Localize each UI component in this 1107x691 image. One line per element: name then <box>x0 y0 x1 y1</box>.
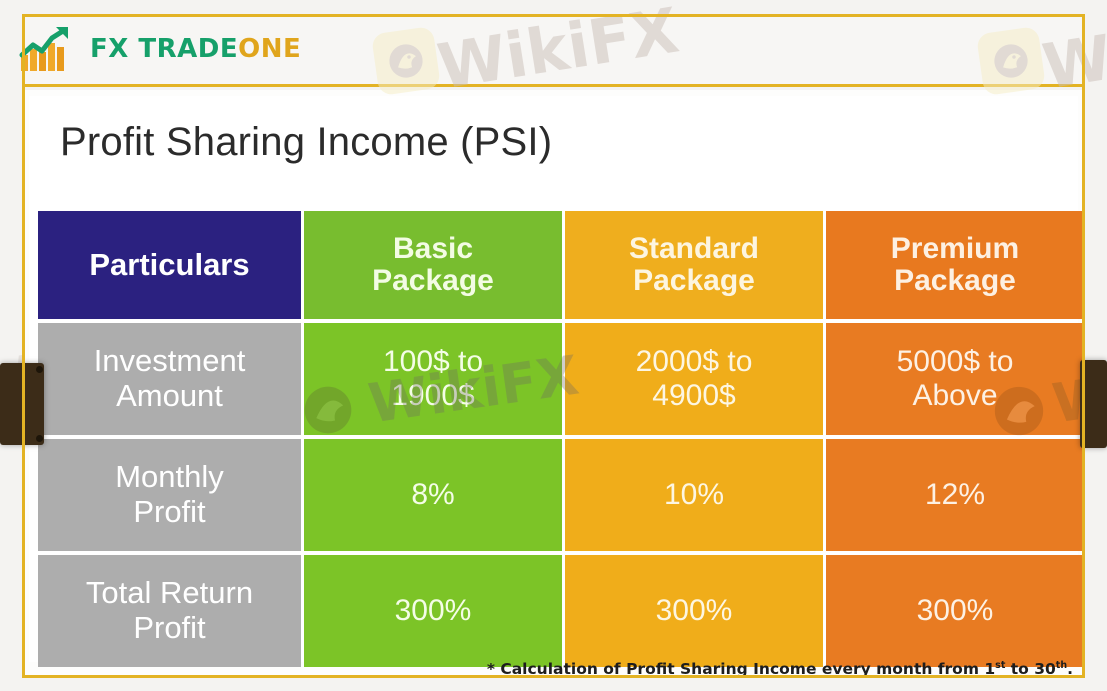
brand-name-primary: FX TRADE <box>90 34 238 64</box>
cell-investment-premium: 5000$ to Above <box>826 323 1084 435</box>
column-header-particulars: Particulars <box>38 211 301 319</box>
cell-line2: Above <box>826 379 1084 413</box>
cell-investment-standard: 2000$ to 4900$ <box>565 323 823 435</box>
cell-line1: 5000$ to <box>826 345 1084 379</box>
column-header-basic: Basic Package <box>304 211 562 319</box>
column-header-premium-line1: Premium <box>826 233 1084 265</box>
row-label-total-return-profit: Total Return Profit <box>38 555 301 667</box>
row-label-line2: Amount <box>38 379 301 414</box>
cell-monthly-standard: 10% <box>565 439 823 551</box>
cell-line1: 8% <box>304 478 562 512</box>
cell-line1: 12% <box>826 478 1084 512</box>
column-header-basic-line2: Package <box>304 265 562 297</box>
presentation-slide: WikiFX FX TRADEONE Profit Sharing Income… <box>0 0 1107 691</box>
table-header-row: Particulars Basic Package Standard Packa… <box>38 211 1084 319</box>
bar-chart-uptrend-icon <box>18 25 80 73</box>
table-row: Total Return Profit 300% 300% 300% <box>38 555 1084 667</box>
table-row: Monthly Profit 8% 10% 12% <box>38 439 1084 551</box>
cell-line1: 10% <box>565 478 823 512</box>
row-label-monthly-profit: Monthly Profit <box>38 439 301 551</box>
cell-monthly-premium: 12% <box>826 439 1084 551</box>
footnote-text-before: * Calculation of Profit Sharing Income e… <box>487 660 995 678</box>
psi-pricing-table: Particulars Basic Package Standard Packa… <box>35 207 1087 671</box>
column-header-particulars-label: Particulars <box>89 247 249 282</box>
cell-line1: 2000$ to <box>565 345 823 379</box>
page-title: Profit Sharing Income (PSI) <box>60 120 552 165</box>
cell-line2: 1900$ <box>304 379 562 413</box>
brand-logo: FX TRADEONE <box>18 24 301 74</box>
cell-investment-basic: 100$ to 1900$ <box>304 323 562 435</box>
column-header-premium: Premium Package <box>826 211 1084 319</box>
cell-total-basic: 300% <box>304 555 562 667</box>
table-row: Investment Amount 100$ to 1900$ 2000$ to… <box>38 323 1084 435</box>
row-label-investment-amount: Investment Amount <box>38 323 301 435</box>
cell-total-premium: 300% <box>826 555 1084 667</box>
column-header-standard: Standard Package <box>565 211 823 319</box>
row-label-line2: Profit <box>38 611 301 646</box>
cell-line1: 300% <box>304 594 562 628</box>
footnote-ordinal-first: st <box>995 660 1005 671</box>
edge-clamp-left <box>0 363 44 445</box>
row-label-line1: Monthly <box>38 460 301 495</box>
row-label-line1: Investment <box>38 344 301 379</box>
brand-name-secondary: ONE <box>238 34 301 64</box>
brand-wordmark: FX TRADEONE <box>90 34 301 64</box>
footnote-ordinal-last: th <box>1056 660 1067 671</box>
cell-total-standard: 300% <box>565 555 823 667</box>
column-header-basic-line1: Basic <box>304 233 562 265</box>
footnote: * Calculation of Profit Sharing Income e… <box>487 660 1073 678</box>
row-label-line1: Total Return <box>38 576 301 611</box>
column-header-standard-line1: Standard <box>565 233 823 265</box>
cell-line1: 300% <box>826 594 1084 628</box>
footnote-text-after: . <box>1067 660 1073 678</box>
column-header-premium-line2: Package <box>826 265 1084 297</box>
cell-line1: 300% <box>565 594 823 628</box>
cell-line1: 100$ to <box>304 345 562 379</box>
edge-clamp-right <box>1080 360 1107 448</box>
column-header-standard-line2: Package <box>565 265 823 297</box>
cell-monthly-basic: 8% <box>304 439 562 551</box>
row-label-line2: Profit <box>38 495 301 530</box>
footnote-text-middle: to 30 <box>1005 660 1055 678</box>
cell-line2: 4900$ <box>565 379 823 413</box>
